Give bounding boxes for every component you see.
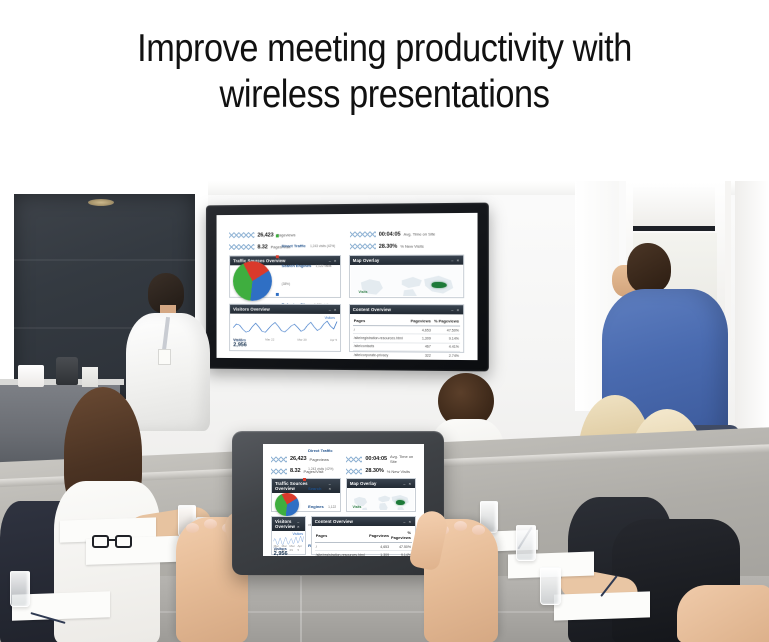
cell-pageviews: 322: [409, 351, 432, 360]
kpi-avg-time-value: 00:04:05: [365, 456, 387, 462]
kpi-row-2: 8.32 Pages/Visit 28.30% % New Visits: [229, 243, 464, 251]
cell-pageviews: 1,309: [368, 551, 390, 556]
panel-title: Visitors Overview: [275, 519, 297, 529]
cell-pageviews: 467: [409, 343, 432, 352]
axis-tick: Apr 5: [297, 544, 303, 552]
legend-item: Direct Traffic 1,243 visits (42%): [303, 444, 338, 475]
kpi-pages-visit-value: 8.32: [257, 244, 267, 250]
kpi-pages-visit-value: 8.32: [290, 468, 301, 474]
panel-map-overlay[interactable]: Map Overlay – ×: [346, 478, 416, 512]
kpi-new-visits-label: % New Visits: [400, 244, 424, 249]
fingernail: [454, 521, 467, 531]
floor-seam: [300, 576, 302, 642]
wall-display[interactable]: 26,423 Pageviews 00:04:05 Avg. Time on S…: [203, 204, 487, 370]
map-legend-label: Visits: [352, 505, 361, 509]
kpi-row-1: 26,423 Pageviews 00:04:05 Avg. Time on S…: [271, 454, 416, 464]
panel-title: Content Overview: [353, 307, 391, 312]
panel-visitors-overview[interactable]: Visitors Overview – × Visitors: [229, 304, 341, 352]
fingernail: [186, 523, 199, 533]
page-title: Improve meeting productivity with wirele…: [46, 26, 723, 118]
content-table[interactable]: Pages Pageviews % Pageviews /4,65347.50%…: [353, 317, 460, 360]
panel-body: Direct Traffic 1,243 visits (42%): [272, 493, 340, 516]
sparkline-icon: [350, 231, 376, 238]
pie-chart: [233, 261, 272, 301]
cell-percent: 9.14%: [390, 551, 412, 556]
cell-page: /site/corporate-privacy-guarantee: [353, 359, 409, 360]
world-map[interactable]: Visits: [348, 489, 414, 510]
panel-header: Map Overlay – ×: [350, 256, 463, 265]
legend-label: Direct Traffic: [282, 243, 306, 248]
legend-label: Search Engines: [282, 263, 312, 268]
panel-body: Pages Pageviews % Pageviews /4,65347.50%…: [312, 526, 415, 554]
display-screen[interactable]: 26,423 Pageviews 00:04:05 Avg. Time on S…: [217, 213, 478, 360]
world-map[interactable]: Visits: [351, 266, 462, 296]
kpi-row-2: 8.32 Pages/Visit 28.30% % New Visits: [271, 468, 416, 475]
axis-tick: Apr 5: [330, 338, 337, 342]
kpi-new-visits-label: % New Visits: [387, 469, 410, 474]
cell-percent: 9.14%: [432, 334, 460, 343]
fingernail: [472, 525, 485, 535]
legend-item: Direct Traffic 1,243 visits (42%): [276, 234, 337, 252]
window-blind: [633, 187, 715, 231]
table-row[interactable]: /4,65347.50%: [315, 543, 412, 551]
page-title-line-1: Improve meeting productivity with: [46, 26, 723, 72]
kpi-avg-time: 00:04:05 Avg. Time on Site: [350, 230, 464, 238]
content-table-body: /4,65347.50%/site/registration-resources…: [315, 543, 412, 556]
line-chart-plot: [231, 317, 339, 341]
column-header-pages[interactable]: Pages: [315, 529, 368, 543]
visitors-total-value: 2,956: [233, 343, 247, 349]
cell-page: /: [315, 543, 368, 551]
panel-visitors-overview[interactable]: Visitors Overview – × Visitors: [271, 516, 306, 555]
panel-traffic-sources[interactable]: Traffic Sources Overview – ×: [229, 255, 341, 297]
panel-title: Visitors Overview: [233, 307, 270, 312]
panel-header: Content Overview – ×: [350, 305, 463, 314]
column-header-pageviews[interactable]: Pageviews: [409, 317, 432, 326]
meeting-room-photo: 26,423 Pageviews 00:04:05 Avg. Time on S…: [0, 181, 769, 642]
kpi-avg-time-label: Avg. Time on Site: [390, 454, 416, 464]
panel-title: Map Overlay: [350, 481, 377, 486]
panel-body: Direct Traffic 1,243 visits (42%): [230, 265, 340, 296]
panel-header: Visitors Overview – ×: [272, 517, 305, 531]
sparkline-icon: [350, 243, 376, 250]
kpi-new-visits: 28.30% % New Visits: [350, 243, 464, 251]
panel-controls-icon[interactable]: – ×: [403, 481, 412, 486]
cell-pageviews: 4,653: [368, 543, 390, 551]
content-table[interactable]: Pages Pageviews % Pageviews /4,65347.50%…: [315, 529, 412, 556]
panel-row-bottom: Visitors Overview – × Visitors: [271, 516, 416, 555]
cell-pageviews: 296: [409, 360, 432, 361]
person-standing-right-head: [627, 243, 671, 293]
panel-row-top: Traffic Sources Overview – ×: [229, 255, 464, 298]
visitors-total: Visitors 2,956: [233, 339, 247, 349]
kpi-avg-time: 00:04:05 Avg. Time on Site: [346, 454, 416, 464]
foreground-hand-right: [677, 585, 769, 642]
dashboard-tv[interactable]: 26,423 Pageviews 00:04:05 Avg. Time on S…: [217, 213, 478, 360]
panel-title: Content Overview: [315, 519, 353, 524]
legend-label: Direct Traffic: [308, 448, 332, 453]
panel-header: Map Overlay – ×: [347, 479, 415, 488]
kpi-new-visits-value: 28.30%: [365, 468, 383, 474]
axis-tick: Mar 22: [265, 338, 274, 342]
panel-body: Visits: [350, 265, 463, 297]
table-row[interactable]: /site/registration-resources.html1,3099.…: [315, 551, 412, 556]
world-map-icon: [351, 266, 462, 296]
line-chart: Visitors Mar 15 Mar 22 Mar 29: [231, 314, 339, 350]
kpi-new-visits-value: 28.30%: [379, 243, 397, 249]
axis-tick: Mar 29: [290, 544, 298, 552]
sparkline-icon: [229, 244, 254, 251]
kpi-pageviews-value: 26,423: [257, 232, 273, 238]
column-header-percent[interactable]: % Pageviews: [390, 529, 412, 543]
panel-body: Pages Pageviews % Pageviews /4,65347.50%…: [350, 314, 463, 352]
cell-percent: 2.74%: [432, 351, 460, 360]
pie-chart: [275, 493, 299, 517]
cell-percent: 47.50%: [390, 543, 412, 551]
visitors-total-value: 2,956: [274, 552, 288, 556]
cell-page: /: [353, 326, 409, 335]
legend-sublabel: 1,243 visits (42%): [310, 244, 335, 248]
water-glass: [540, 567, 561, 605]
table-header-row: Pages Pageviews % Pageviews: [315, 529, 412, 543]
fingernail: [204, 519, 217, 529]
panel-body: Visitors Mar 15 Mar 22 Mar 29: [230, 313, 340, 351]
cell-page: /site/registration-resources.html: [353, 334, 409, 343]
ceiling-downlight-icon: [88, 199, 114, 206]
map-legend-label: Visits: [358, 290, 367, 294]
map-region-highlight[interactable]: [432, 282, 447, 289]
column-header-pages[interactable]: Pages: [353, 317, 409, 326]
panel-traffic-sources[interactable]: Traffic Sources Overview – ×: [271, 478, 341, 512]
column-header-pageviews[interactable]: Pageviews: [368, 529, 390, 543]
panel-body: Visits: [347, 488, 415, 511]
kpi-row-1: 26,423 Pageviews 00:04:05 Avg. Time on S…: [229, 230, 464, 238]
cell-page: /site/registration-resources.html: [315, 551, 368, 556]
panel-row-bottom: Visitors Overview – × Visitors: [229, 304, 464, 353]
panel-row-top: Traffic Sources Overview – ×: [271, 478, 416, 512]
panel-title: Map Overlay: [353, 258, 380, 263]
sparkline-icon: [229, 232, 254, 239]
legend-label: Search Engines: [308, 486, 324, 509]
tissue-box: [82, 367, 98, 387]
visitors-total: Visitors 2,956: [274, 548, 288, 556]
legend-swatch-search-engines: [276, 255, 279, 258]
axis-tick: Mar 29: [297, 338, 306, 342]
panel-body: Visitors Mar 15 Mar 22 Mar 29: [272, 531, 305, 556]
tablet-screen[interactable]: 26,423 Pageviews 00:04:05 Avg. Time on S…: [263, 444, 424, 556]
panel-header: Visitors Overview – ×: [230, 305, 340, 314]
line-chart: Visitors Mar 15 Mar 22 Mar 29: [273, 532, 304, 556]
badge: [158, 349, 171, 365]
panel-header: Content Overview – ×: [312, 517, 415, 526]
legend-swatch-direct-traffic: [276, 235, 279, 238]
legend-swatch-search-engines: [303, 478, 306, 481]
panel-controls-icon[interactable]: – ×: [403, 519, 412, 524]
panel-controls-icon[interactable]: – ×: [297, 519, 302, 529]
panel-content-overview[interactable]: Content Overview – × Pages: [311, 516, 416, 555]
panel-controls-icon[interactable]: – ×: [451, 307, 460, 312]
panel-map-overlay[interactable]: Map Overlay – ×: [349, 255, 464, 298]
sparkline-icon: [346, 456, 362, 463]
cup-stack: [18, 365, 44, 387]
cell-pageviews: 1,309: [409, 334, 432, 343]
display-bezel: 26,423 Pageviews 00:04:05 Avg. Time on S…: [206, 203, 489, 372]
panel-controls-icon[interactable]: – ×: [329, 258, 338, 263]
cell-percent: 47.50%: [432, 326, 460, 335]
kpi-new-visits: 28.30% % New Visits: [346, 468, 416, 475]
eyeglasses-icon: [92, 535, 136, 548]
coffee-pot: [56, 357, 78, 385]
page-title-line-2: wireless presentations: [46, 72, 723, 118]
cell-percent: 4.41%: [432, 343, 460, 352]
sparkline-icon: [346, 468, 362, 475]
water-glass: [10, 571, 30, 607]
water-glass: [516, 525, 536, 561]
panel-content-overview[interactable]: Content Overview – × Pages: [349, 304, 464, 353]
kpi-avg-time-label: Avg. Time on Site: [404, 231, 436, 236]
dashboard-tablet[interactable]: 26,423 Pageviews 00:04:05 Avg. Time on S…: [263, 444, 424, 556]
page-root: Improve meeting productivity with wirele…: [0, 0, 769, 642]
column-header-percent[interactable]: % Pageviews: [432, 317, 460, 326]
sparkline-icon: [271, 468, 287, 475]
panel-controls-icon[interactable]: – ×: [329, 481, 338, 491]
panel-controls-icon[interactable]: – ×: [451, 258, 460, 263]
legend-sublabel: 1,243 visits (42%): [308, 467, 333, 471]
map-region-highlight[interactable]: [396, 500, 405, 505]
legend-swatch-referring-sites: [276, 293, 279, 296]
content-table-body: /4,65347.50%/site/registration-resources…: [353, 326, 460, 361]
table-row[interactable]: /site/corporate-privacy-guarantee2962.13…: [353, 359, 460, 360]
panel-controls-icon[interactable]: – ×: [329, 307, 338, 312]
kpi-avg-time-value: 00:04:05: [379, 231, 401, 237]
cell-pageviews: 4,653: [409, 326, 432, 335]
line-chart-axis: Mar 15 Mar 22 Mar 29 Apr 5: [233, 338, 337, 343]
sparkline-icon: [271, 456, 287, 463]
